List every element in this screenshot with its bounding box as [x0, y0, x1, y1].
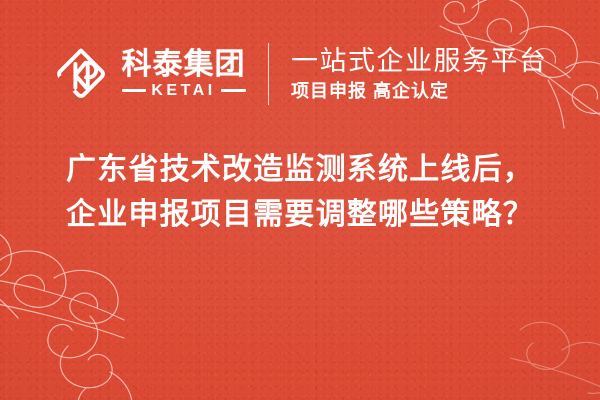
- brand-lockup: 科泰集团 KETAI: [53, 46, 246, 102]
- brand-name-en-row: KETAI: [122, 83, 246, 99]
- auspicious-cloud-icon-mid-right: [510, 300, 600, 400]
- ketai-diamond-kp-logo-icon: [53, 46, 109, 102]
- headline-line-1: 广东省技术改造监测系统上线后，: [66, 152, 534, 187]
- tagline-primary: 一站式企业服务平台: [291, 48, 548, 75]
- wordmark-rule-left: [122, 89, 147, 92]
- tagline-secondary: 项目申报 高企认定: [291, 82, 548, 100]
- brand-name-cn: 科泰集团: [122, 50, 246, 80]
- brand-name-en: KETAI: [151, 83, 215, 99]
- promotional-banner: 科泰集团 KETAI 一站式企业服务平台 项目申报 高企认定 广东省技术改造监测…: [0, 0, 600, 400]
- wordmark-rule-right: [221, 89, 246, 92]
- header-divider: [268, 43, 270, 105]
- auspicious-cloud-icon-bottom-left: [0, 220, 248, 400]
- banner-header: 科泰集团 KETAI 一站式企业服务平台 项目申报 高企认定: [0, 36, 600, 112]
- tagline-block: 一站式企业服务平台 项目申报 高企认定: [291, 48, 548, 100]
- brand-wordmark: 科泰集团 KETAI: [122, 50, 246, 99]
- headline-line-2: 企业申报项目需要调整哪些策略？: [66, 197, 534, 232]
- headline-block: 广东省技术改造监测系统上线后， 企业申报项目需要调整哪些策略？: [0, 152, 600, 233]
